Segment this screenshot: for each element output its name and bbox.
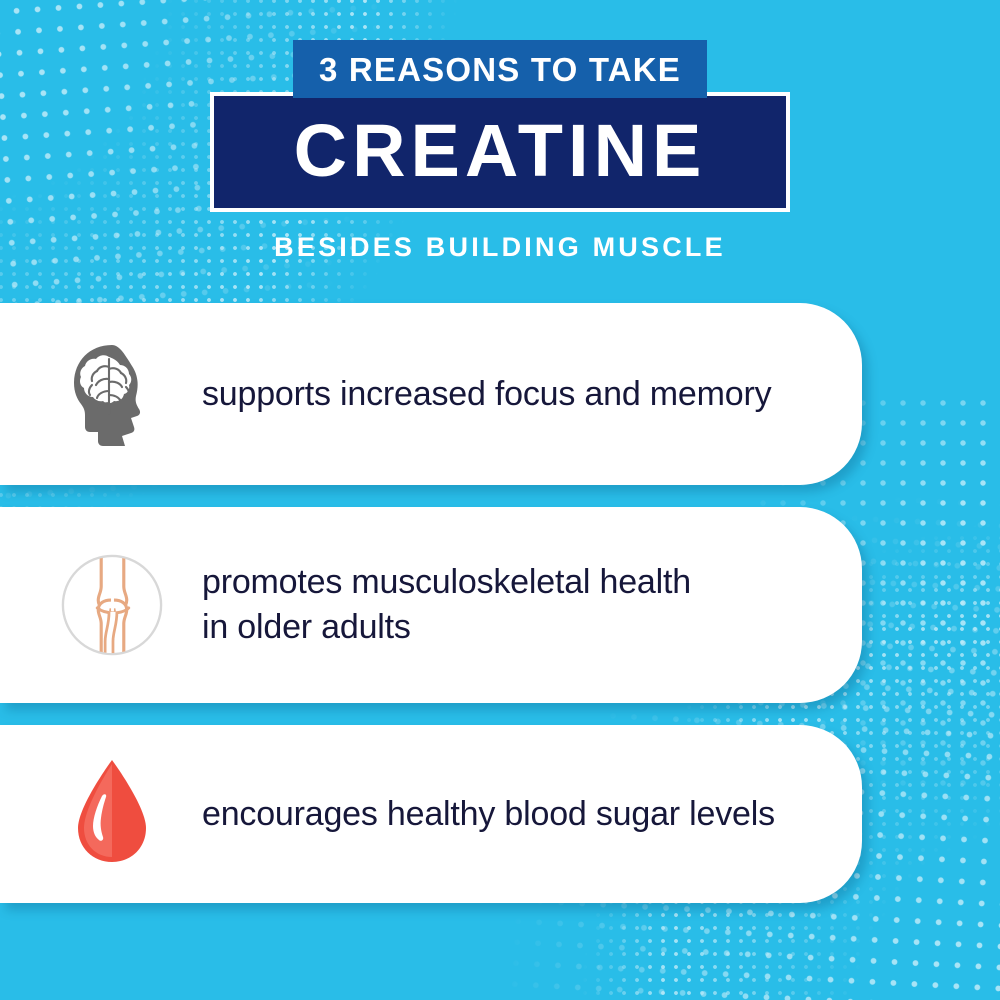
benefit-text-focus-memory: supports increased focus and memory (202, 372, 771, 417)
title-panel: CREATINE (210, 92, 790, 212)
knee-joint-icon (58, 546, 166, 664)
benefit-card-blood-sugar: encourages healthy blood sugar levels (0, 725, 862, 903)
infographic-poster: 3 REASONS TO TAKE CREATINE BESIDES BUILD… (0, 0, 1000, 1000)
brain-head-icon (58, 335, 166, 453)
eyebrow-banner: 3 REASONS TO TAKE (293, 40, 707, 98)
blood-drop-icon (58, 755, 166, 873)
benefit-text-blood-sugar: encourages healthy blood sugar levels (202, 792, 775, 837)
page-title: CREATINE (214, 114, 786, 188)
benefit-card-focus-memory: supports increased focus and memory (0, 303, 862, 485)
benefit-card-musculoskeletal: promotes musculoskeletal health in older… (0, 507, 862, 703)
poster-header: 3 REASONS TO TAKE CREATINE BESIDES BUILD… (0, 40, 1000, 261)
benefit-text-musculoskeletal: promotes musculoskeletal health in older… (202, 560, 691, 650)
benefit-card-list: supports increased focus and memory (0, 303, 862, 925)
page-subtitle: BESIDES BUILDING MUSCLE (0, 234, 1000, 261)
eyebrow-label: 3 REASONS TO TAKE (293, 40, 707, 98)
